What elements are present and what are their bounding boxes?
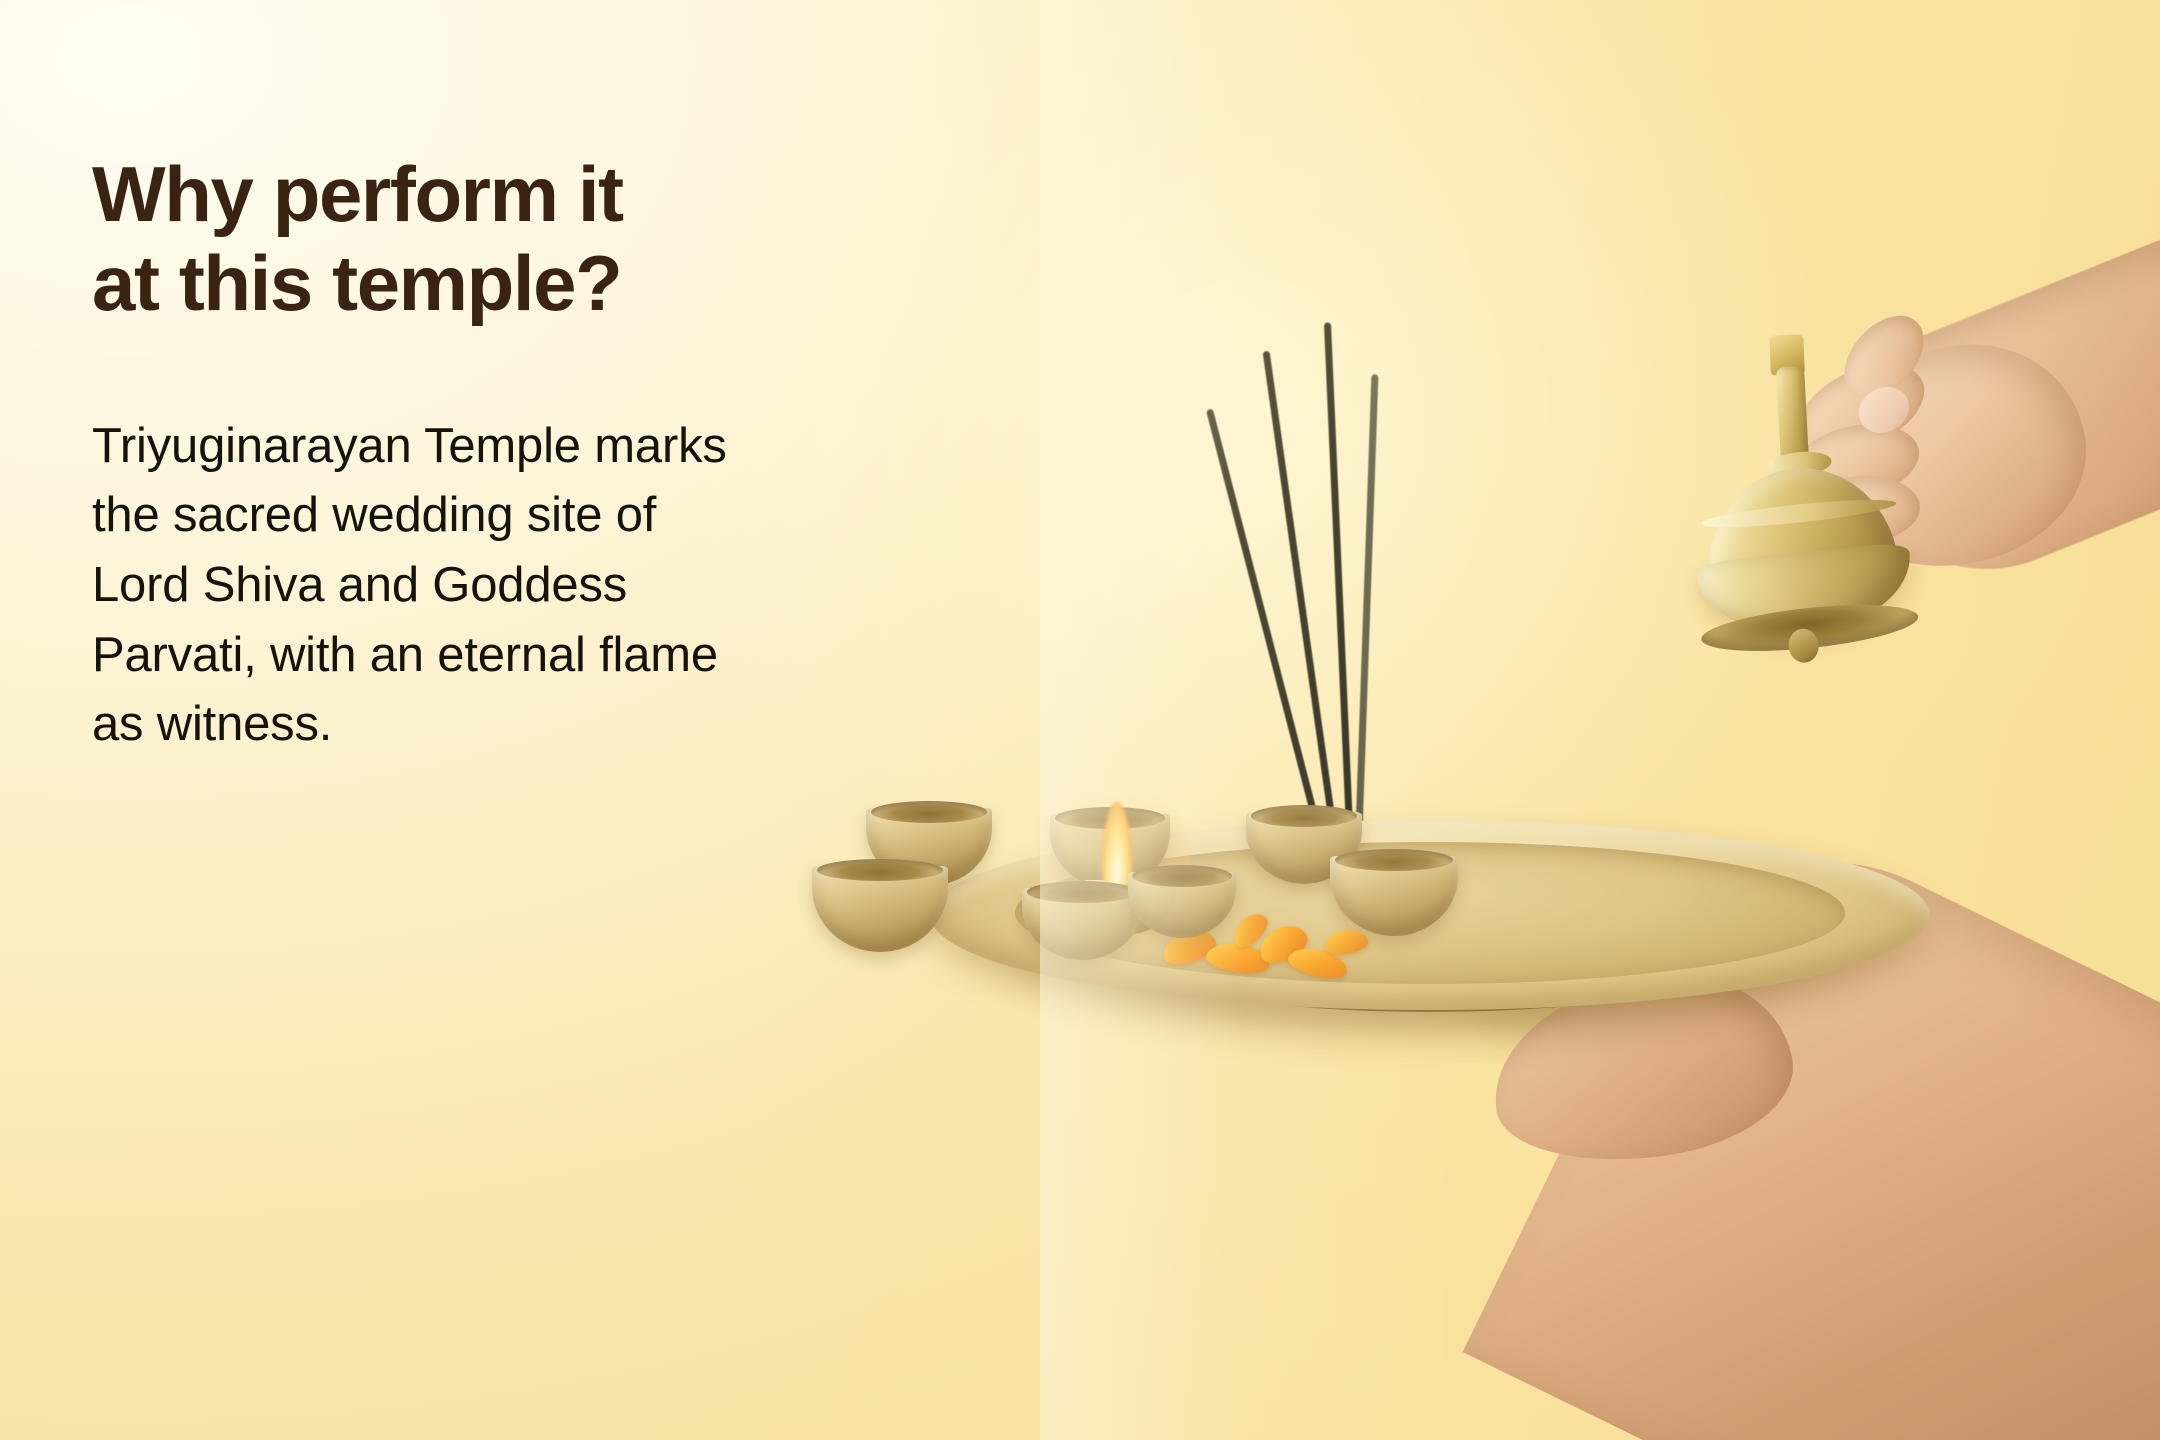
brass-thali xyxy=(750,760,2110,1090)
page-title: Why perform it at this temple? xyxy=(92,150,732,328)
body-paragraph: Triyuginarayan Temple marks the sacred w… xyxy=(92,412,732,760)
slide-canvas: Why perform it at this temple? Triyugina… xyxy=(0,0,2160,1440)
hand-with-bell xyxy=(1600,330,2160,750)
katori-bowl xyxy=(812,866,948,952)
petal xyxy=(1323,927,1370,957)
puja-photo xyxy=(1040,0,2160,1440)
brass-bell-icon xyxy=(1673,345,1933,667)
text-column: Why perform it at this temple? Triyugina… xyxy=(92,150,732,760)
